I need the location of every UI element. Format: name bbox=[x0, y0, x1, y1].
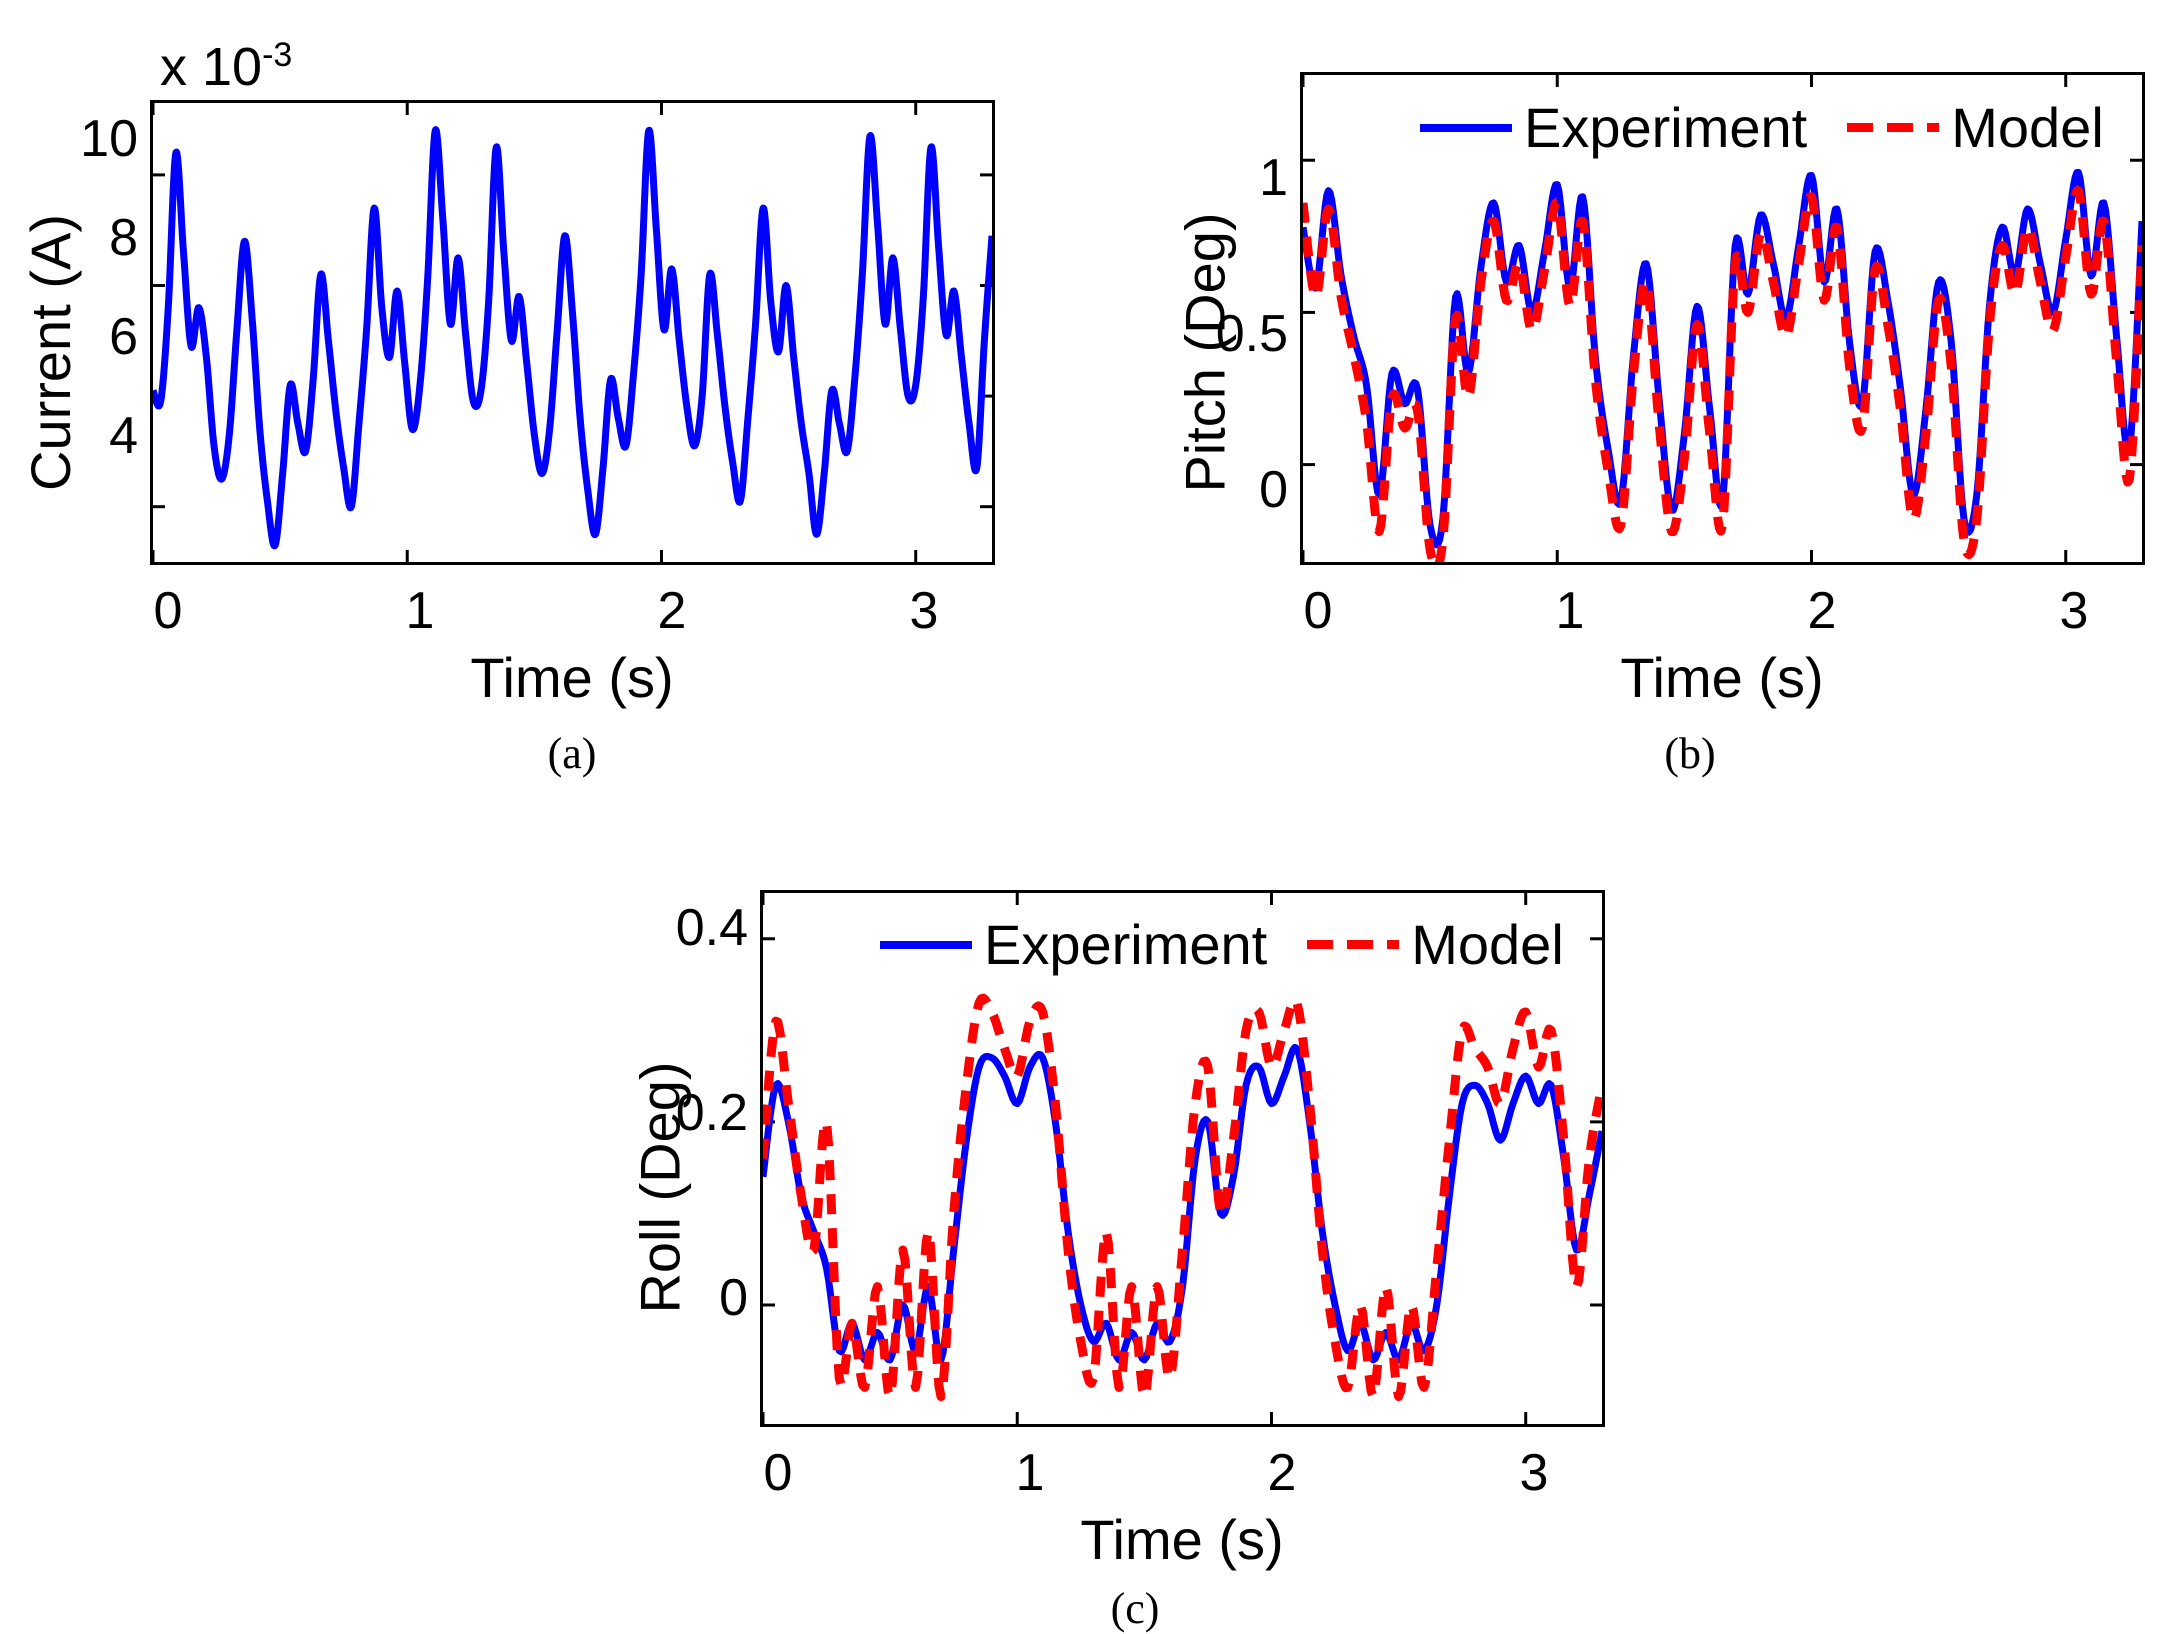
figure-root: x 10-3 Current (A) 10 8 6 4 0 1 2 3 Time… bbox=[0, 0, 2160, 1619]
panel-a-xlabel: Time (s) bbox=[470, 645, 673, 710]
panel-a-exponent: x 10-3 bbox=[160, 36, 292, 98]
panel-b-xlabel: Time (s) bbox=[1620, 645, 1823, 710]
panel-b-xtick-1: 1 bbox=[1556, 585, 1585, 637]
legend-line-solid-icon bbox=[1420, 124, 1512, 132]
panel-a-xtick-1: 1 bbox=[406, 585, 435, 637]
panel-c-legend-item-experiment: Experiment bbox=[880, 912, 1267, 977]
panel-c-ytick-0-2: 0.2 bbox=[640, 1087, 748, 1139]
panel-c-ylabel-wrap: Roll (Deg) bbox=[495, 1155, 825, 1220]
panel-b-legend: Experiment Model bbox=[1420, 95, 2104, 160]
legend-line-dashed-icon bbox=[1307, 940, 1399, 949]
panel-a-axes bbox=[150, 100, 995, 565]
panel-a-exponent-prefix: x 10 bbox=[160, 37, 262, 97]
panel-a-xtick-0: 0 bbox=[154, 585, 183, 637]
panel-a-ytick-4: 4 bbox=[60, 410, 138, 462]
panel-b-xtick-2: 2 bbox=[1808, 585, 1837, 637]
panel-a-caption: (a) bbox=[548, 728, 597, 779]
panel-a-xtick-2: 2 bbox=[658, 585, 687, 637]
panel-b-legend-item-model: Model bbox=[1847, 95, 2104, 160]
panel-b-ytick-1: 1 bbox=[1200, 152, 1288, 204]
panel-a-ytick-8: 8 bbox=[60, 212, 138, 264]
panel-c-legend-item-model: Model bbox=[1307, 912, 1564, 977]
panel-b-ytick-0-5: 0.5 bbox=[1180, 308, 1288, 360]
panel-c-ytick-0-4: 0.4 bbox=[640, 902, 748, 954]
panel-b-ytick-0: 0 bbox=[1200, 464, 1288, 516]
panel-c-legend: Experiment Model bbox=[880, 912, 1564, 977]
panel-c-xtick-1: 1 bbox=[1016, 1447, 1045, 1499]
panel-c-legend-label-model: Model bbox=[1411, 912, 1564, 977]
panel-c-legend-label-experiment: Experiment bbox=[984, 912, 1267, 977]
panel-a-ytick-10: 10 bbox=[60, 113, 138, 165]
panel-b-legend-label-experiment: Experiment bbox=[1524, 95, 1807, 160]
panel-a-ytick-6: 6 bbox=[60, 311, 138, 363]
panel-a-plot-area bbox=[153, 103, 992, 562]
legend-line-dashed-icon bbox=[1847, 123, 1939, 132]
panel-b-caption: (b) bbox=[1664, 728, 1715, 779]
panel-c-xlabel: Time (s) bbox=[1080, 1507, 1283, 1572]
panel-b-legend-label-model: Model bbox=[1951, 95, 2104, 160]
panel-b-legend-item-experiment: Experiment bbox=[1420, 95, 1807, 160]
panel-c-xtick-3: 3 bbox=[1520, 1447, 1549, 1499]
panel-a-xtick-3: 3 bbox=[910, 585, 939, 637]
panel-c-xtick-0: 0 bbox=[764, 1447, 793, 1499]
legend-line-solid-icon bbox=[880, 941, 972, 949]
panel-b-xtick-0: 0 bbox=[1304, 585, 1333, 637]
panel-c-caption: (c) bbox=[1111, 1583, 1160, 1634]
panel-c-xtick-2: 2 bbox=[1268, 1447, 1297, 1499]
panel-b-xtick-3: 3 bbox=[2060, 585, 2089, 637]
panel-c-ytick-0: 0 bbox=[660, 1272, 748, 1324]
panel-a-exponent-power: -3 bbox=[262, 36, 292, 74]
